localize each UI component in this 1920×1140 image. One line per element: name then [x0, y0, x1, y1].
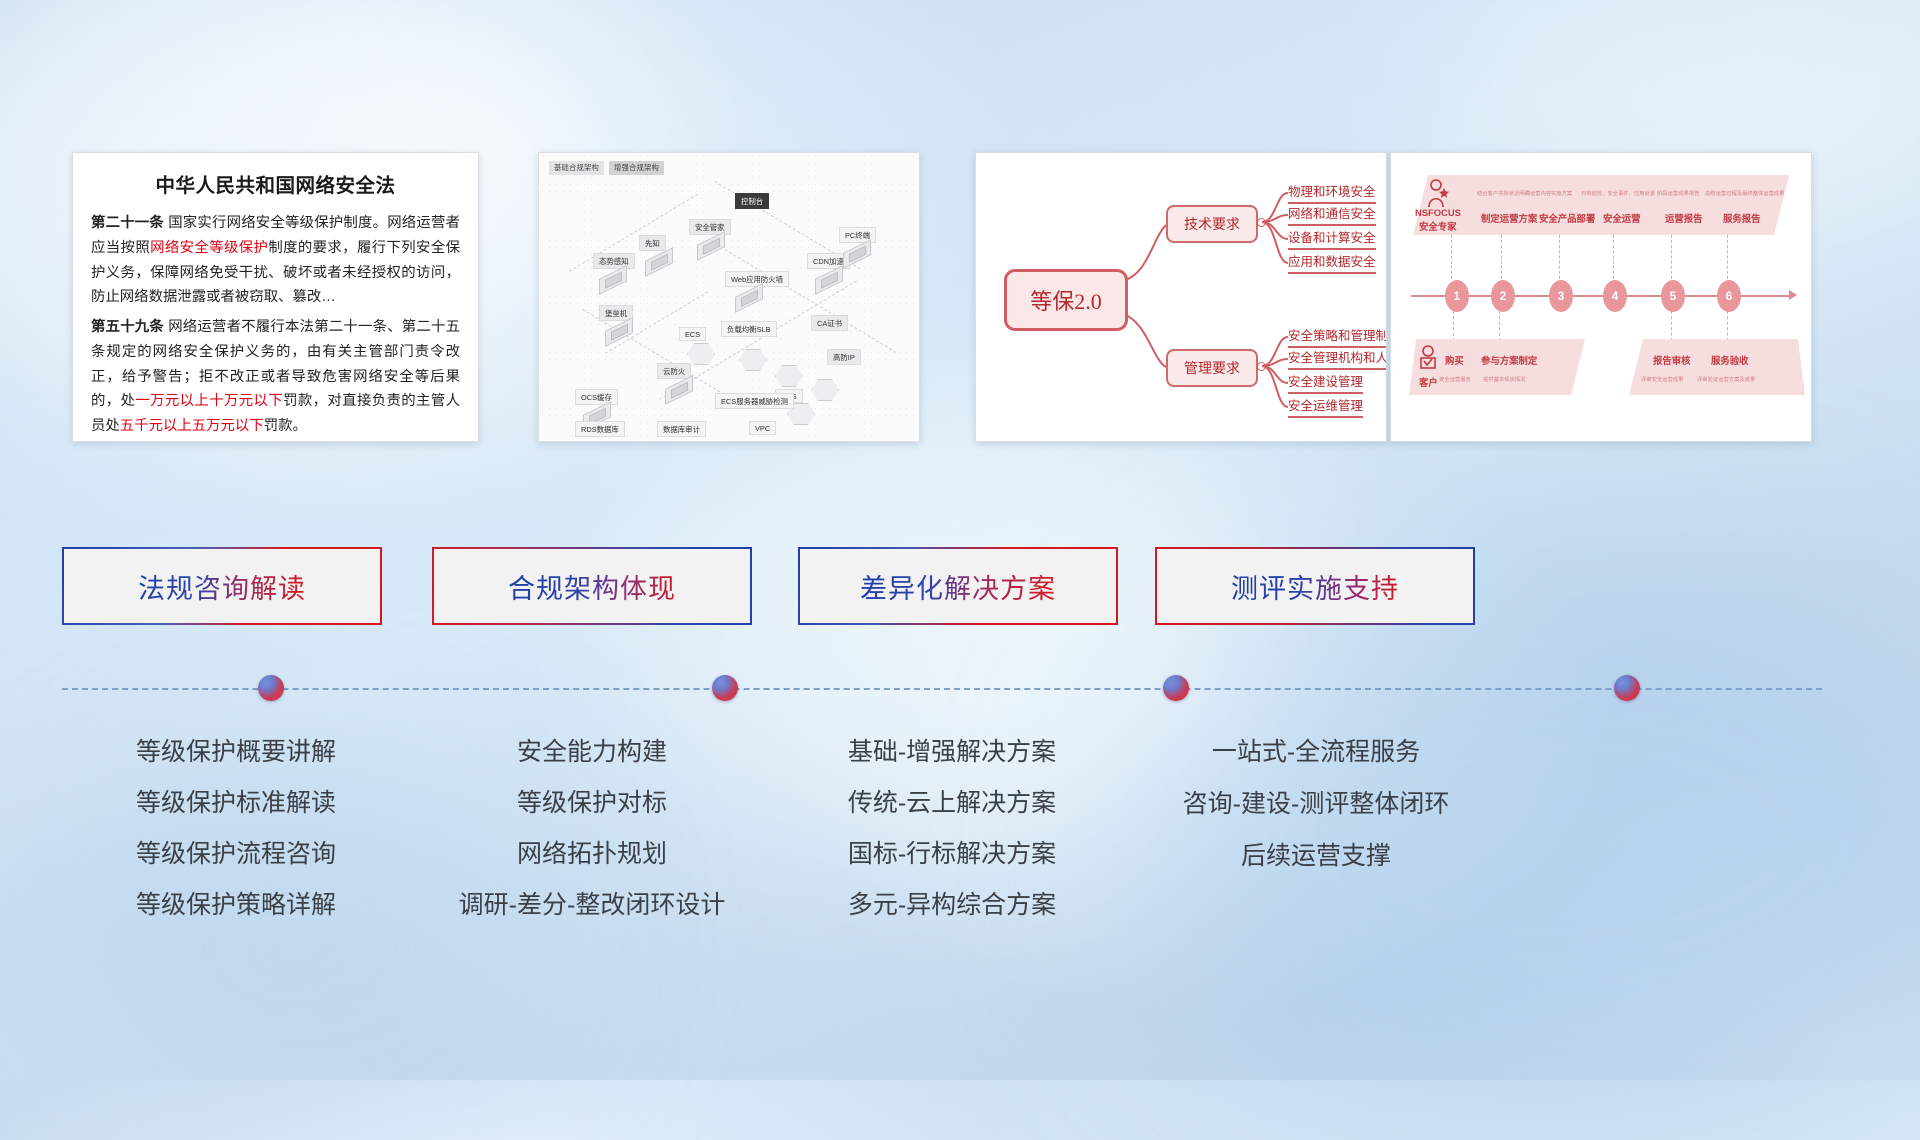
bullet-column-4: 一站式-全流程服务 咨询-建设-测评整体闭环 后续运营支撑 [1116, 740, 1516, 896]
list-item: 等级保护对标 [392, 791, 792, 816]
architecture-canvas: 基础合规架构 增强合规架构 控制台 安全管家 先知 态势感知 堡垒机 ECS 云… [539, 153, 919, 441]
timeline-marker-1[interactable] [258, 675, 284, 701]
arch-icon-node [645, 249, 679, 272]
arch-node-db-audit: 数据库审计 [657, 421, 706, 437]
timeline-marker-3[interactable] [1163, 675, 1189, 701]
timeline-bottom-banner-right [1629, 339, 1805, 395]
mindmap-root-node[interactable]: 等保2.0 [1004, 269, 1128, 331]
title-box-compliance-architecture[interactable]: 合规架构体现 [432, 547, 752, 625]
law-21-highlight: 网络安全等级保护 [150, 240, 268, 256]
expert-label-line2: 安全专家 [1419, 219, 1457, 233]
bottom-step-sub: 提供基本现状情况 [1483, 375, 1525, 383]
bottom-step-main: 报告审核 [1653, 353, 1691, 367]
mindmap-leaf: 安全建设管理 [1288, 371, 1363, 394]
arch-node-rds-database: RDS数据库 [575, 421, 625, 437]
timeline-connector [1499, 311, 1500, 341]
mindmap-leaf: 物理和环境安全 [1288, 181, 1376, 204]
top-step-main: 安全运营 [1603, 211, 1641, 225]
top-step-main: 制定运营方案 [1481, 211, 1537, 225]
timeline-connector [1559, 235, 1560, 279]
list-item: 后续运营支撑 [1116, 844, 1516, 869]
top-step-main: 运营报告 [1665, 211, 1703, 225]
list-item: 国标-行标解决方案 [752, 842, 1152, 867]
list-item: 咨询-建设-测评整体闭环 [1116, 792, 1516, 817]
customer-person-icon [1417, 345, 1439, 371]
timeline-connector [1451, 235, 1452, 279]
list-item: 等级保护策略详解 [36, 893, 436, 918]
law-title: 中华人民共和国网络安全法 [91, 169, 460, 198]
mindmap-leaf: 安全运维管理 [1288, 395, 1363, 418]
bottom-step-main: 购买 [1445, 353, 1464, 367]
list-item: 传统-云上解决方案 [752, 791, 1152, 816]
list-item: 安全能力构建 [392, 740, 792, 765]
mindmap-collapse-icon[interactable] [1257, 218, 1266, 227]
arch-icon-node [605, 319, 639, 342]
timeline-top-banner [1413, 175, 1789, 235]
timeline-node[interactable]: 6 [1717, 280, 1741, 312]
architecture-tabs: 基础合规架构 增强合规架构 [549, 161, 664, 175]
tab-basic-compliance[interactable]: 基础合规架构 [549, 161, 604, 175]
top-step-main: 服务报告 [1723, 211, 1761, 225]
card-law-text: 中华人民共和国网络安全法 第二十一条 国家实行网络安全等级保护制度。网络运营者应… [72, 152, 479, 442]
bottom-step-sub: 安全运营服务 [1439, 375, 1471, 383]
law-59-highlight-1: 一万元以上十万元以下 [135, 393, 283, 409]
timeline-node[interactable]: 4 [1603, 280, 1627, 312]
timeline-canvas: NSFOCUS 安全专家 结合客户实际状况明确运营内容 制定运营方案 实施方案 … [1391, 153, 1811, 441]
title-box-regulation-consulting[interactable]: 法规咨询解读 [62, 547, 382, 625]
timeline-marker-4[interactable] [1614, 675, 1640, 701]
arch-node-anti-ddos-ip: 高防IP [827, 349, 861, 365]
timeline-connector [1727, 235, 1728, 279]
card-architecture-diagram: 基础合规架构 增强合规架构 控制台 安全管家 先知 态势感知 堡垒机 ECS 云… [538, 152, 920, 442]
tab-enhanced-compliance[interactable]: 增强合规架构 [609, 161, 664, 175]
top-step-sub: 实施方案 [1551, 189, 1572, 197]
arch-node-ecs: ECS [679, 327, 706, 341]
timeline-connector [1501, 235, 1502, 279]
bullet-column-3: 基础-增强解决方案 传统-云上解决方案 国标-行标解决方案 多元-异构综合方案 [752, 740, 1152, 944]
timeline-node[interactable]: 3 [1549, 280, 1573, 312]
main-timeline-line [62, 688, 1822, 690]
list-item: 多元-异构综合方案 [752, 893, 1152, 918]
card-mindmap-dengbao: 等保2.0 技术要求 物理和环境安全 网络和通信安全 设备和计算安全 应用和数据… [975, 152, 1387, 442]
list-item: 调研-差分-整改闭环设计 [392, 893, 792, 918]
list-item: 等级保护概要讲解 [36, 740, 436, 765]
card-service-timeline: NSFOCUS 安全专家 结合客户实际状况明确运营内容 制定运营方案 实施方案 … [1390, 152, 1812, 442]
list-item: 等级保护标准解读 [36, 791, 436, 816]
title-box-assessment-support[interactable]: 测评实施支持 [1155, 547, 1475, 625]
law-article-59-label: 第五十九条 [91, 319, 164, 335]
top-step-main: 安全产品部署 [1539, 211, 1595, 225]
timeline-connector [1613, 235, 1614, 279]
customer-label: 客户 [1419, 375, 1438, 389]
list-item: 网络拓扑规划 [392, 842, 792, 867]
top-step-sub: 结合客户实际状况明确运营内容 [1477, 189, 1551, 197]
arch-icon-node [735, 285, 769, 308]
mindmap-branch-technical[interactable]: 技术要求 [1166, 205, 1258, 243]
law-59-highlight-2: 五千元以上五万元以下 [120, 418, 264, 434]
mindmap-leaf: 安全管理机构和人员 [1288, 347, 1387, 370]
arch-node-ecs-threat-detection: ECS服务器威胁检测 [715, 393, 794, 409]
timeline-node[interactable]: 1 [1445, 280, 1469, 312]
bullet-column-2: 安全能力构建 等级保护对标 网络拓扑规划 调研-差分-整改闭环设计 [392, 740, 792, 944]
title-label: 合规架构体现 [508, 567, 676, 606]
top-step-sub: 阶段运营成果报告 [1657, 189, 1699, 197]
law-paragraph-21: 第二十一条 国家实行网络安全等级保护制度。网络运营者应当按照网络安全等级保护制度… [91, 211, 460, 310]
timeline-node[interactable]: 2 [1491, 280, 1515, 312]
timeline-arrow-icon [1789, 290, 1797, 300]
timeline-connector [1727, 311, 1728, 341]
mindmap-branch-management[interactable]: 管理要求 [1166, 349, 1258, 387]
title-label: 差异化解决方案 [860, 567, 1056, 606]
arch-icon-node [665, 377, 699, 400]
arch-node-slb: 负载均衡SLB [721, 321, 777, 337]
arch-node-console: 控制台 [735, 193, 769, 209]
timeline-marker-2[interactable] [712, 675, 738, 701]
arch-icon-node [599, 267, 633, 290]
mindmap-leaf: 安全策略和管理制度 [1288, 325, 1387, 348]
mindmap-leaf: 应用和数据安全 [1288, 251, 1376, 274]
mindmap-leaf: 网络和通信安全 [1288, 203, 1376, 226]
arch-icon-node [697, 233, 731, 256]
timeline-node[interactable]: 5 [1661, 280, 1685, 312]
arch-icon-node [815, 267, 849, 290]
bottom-step-sub: 评审安全运营成果 [1641, 375, 1683, 383]
list-item: 一站式-全流程服务 [1116, 740, 1516, 765]
law-paragraph-59: 第五十九条 网络运营者不履行本法第二十一条、第二十五条规定的网络安全保护义务的，… [91, 315, 460, 439]
mindmap-collapse-icon[interactable] [1257, 362, 1266, 371]
title-box-differentiated-solution[interactable]: 差异化解决方案 [798, 547, 1118, 625]
arch-node-vpc: VPC [749, 421, 776, 435]
bottom-step-sub: 评审验证运营方案及成果 [1697, 375, 1755, 383]
law-article-21-label: 第二十一条 [91, 215, 164, 231]
expert-person-icon [1425, 179, 1451, 209]
timeline-connector [1453, 311, 1454, 341]
bottom-step-main: 服务验收 [1711, 353, 1749, 367]
bullet-column-1: 等级保护概要讲解 等级保护标准解读 等级保护流程咨询 等级保护策略详解 [36, 740, 436, 944]
timeline-connector [1671, 311, 1672, 341]
slide-stage: 中华人民共和国网络安全法 第二十一条 国家实行网络安全等级保护制度。网络运营者应… [0, 0, 1920, 1080]
title-label: 法规咨询解读 [138, 567, 306, 606]
mindmap-leaf: 设备和计算安全 [1288, 227, 1376, 250]
list-item: 基础-增强解决方案 [752, 740, 1152, 765]
bottom-step-main: 参与方案制定 [1481, 353, 1537, 367]
list-item: 等级保护流程咨询 [36, 842, 436, 867]
arch-icon-node [843, 241, 877, 264]
title-label: 测评实施支持 [1231, 567, 1399, 606]
mindmap-canvas: 等保2.0 技术要求 物理和环境安全 网络和通信安全 设备和计算安全 应用和数据… [976, 153, 1386, 441]
arch-node-ca-certificate: CA证书 [811, 315, 848, 331]
expert-label-line1: NSFOCUS [1415, 207, 1461, 218]
timeline-connector [1671, 235, 1672, 279]
top-step-sub: 总结运营过程及最终整体运营成果 [1705, 189, 1784, 197]
law-59-text-c: 罚款。 [264, 418, 307, 434]
top-step-sub: 日常巡检、安全事件、应用处置 [1581, 189, 1655, 197]
